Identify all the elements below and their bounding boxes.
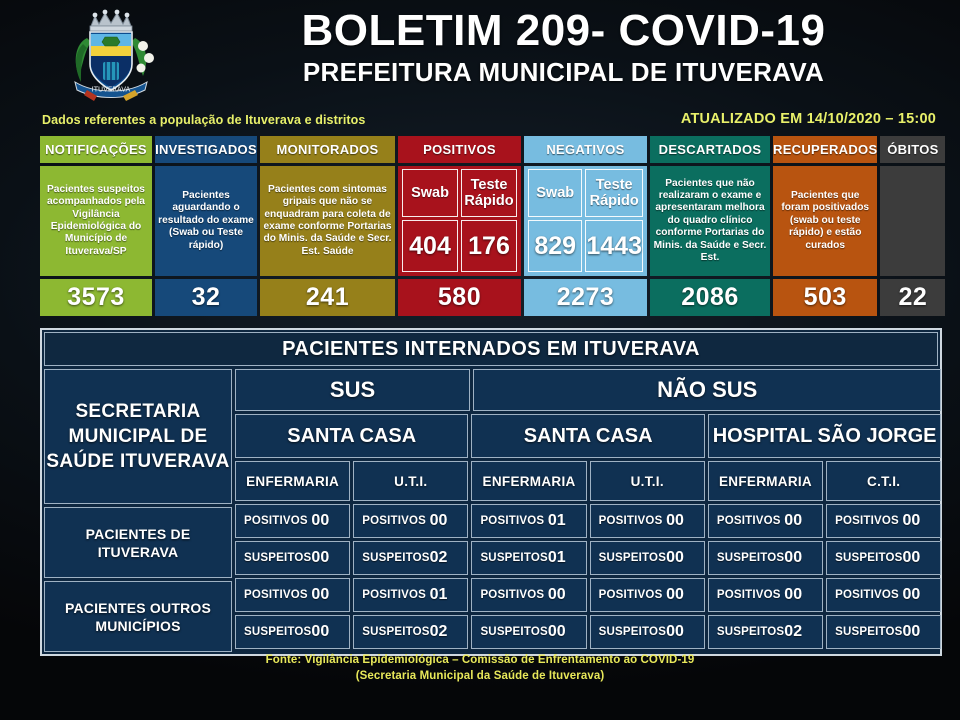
- metric-label: POSITIVOS: [362, 515, 426, 527]
- metric-value: 02: [784, 623, 802, 641]
- stat-body-monitorados: Pacientes com sintomas gripais que não s…: [260, 166, 395, 276]
- page-subtitle: PREFEITURA MUNICIPAL DE ITUVERAVA: [175, 56, 952, 88]
- ward-header-1: U.T.I.: [353, 461, 468, 501]
- cell-positivos-r1-c0: POSITIVOS00: [235, 578, 350, 612]
- stat-header-recuperados: RECUPERADOS: [773, 136, 877, 163]
- stat-sublabel-negativos-1: Teste Rápido: [585, 169, 643, 217]
- stat-total-monitorados: 241: [260, 279, 395, 316]
- metric-label: POSITIVOS: [717, 515, 781, 527]
- footer: Fonte: Vigilância Epidemiológica – Comis…: [0, 652, 960, 684]
- cell-suspeitos-r1-c0: SUSPEITOS00: [235, 615, 350, 649]
- cell-positivos-r1-c2: POSITIVOS00: [471, 578, 586, 612]
- stat-total-recuperados: 503: [773, 279, 877, 316]
- stat-column-notificacoes: NOTIFICAÇÕESPacientes suspeitos acompanh…: [40, 136, 152, 316]
- cell-suspeitos-r1-c3: SUSPEITOS00: [590, 615, 705, 649]
- metric-value: 00: [784, 549, 802, 567]
- stat-split-body-positivos: Swab404Teste Rápido176: [398, 166, 521, 276]
- stat-column-descartados: DESCARTADOSPacientes que não realizaram …: [650, 136, 770, 316]
- cell-suspeitos-r1-c1: SUSPEITOS02: [353, 615, 468, 649]
- stat-sublabel-positivos-0: Swab: [402, 169, 458, 217]
- metric-value: 00: [903, 586, 921, 604]
- hospital-header-row: SANTA CASA SANTA CASA HOSPITAL SÃO JORGE: [235, 414, 941, 458]
- metric-value: 00: [903, 512, 921, 530]
- metric-label: SUSPEITOS: [599, 552, 666, 564]
- metric-value: 00: [311, 549, 329, 567]
- stat-body-investigados: Pacientes aguardando o resultado do exam…: [155, 166, 257, 276]
- metric-label: POSITIVOS: [362, 589, 426, 601]
- hospital-sao-jorge: HOSPITAL SÃO JORGE: [708, 414, 941, 458]
- system-header-row: SUS NÃO SUS: [235, 369, 941, 411]
- metric-label: SUSPEITOS: [362, 552, 429, 564]
- stat-column-negativos: NEGATIVOSSwab829Teste Rápido14432273: [524, 136, 647, 316]
- metric-value: 00: [903, 549, 921, 567]
- stat-description-descartados: Pacientes que não realizaram o exame e a…: [653, 178, 767, 265]
- cell-positivos-r0-c0: POSITIVOS00: [235, 504, 350, 538]
- stat-header-obitos: ÓBITOS: [880, 136, 945, 163]
- metric-value: 00: [666, 512, 684, 530]
- stat-subvalue-negativos-0: 829: [528, 220, 582, 272]
- metric-label: POSITIVOS: [599, 589, 663, 601]
- metric-value: 00: [548, 623, 566, 641]
- table-row: POSITIVOS00POSITIVOS00POSITIVOS01POSITIV…: [235, 504, 941, 538]
- metric-value: 00: [311, 623, 329, 641]
- ward-header-5: C.T.I.: [826, 461, 941, 501]
- stats-table: NOTIFICAÇÕESPacientes suspeitos acompanh…: [40, 136, 942, 316]
- metric-label: SUSPEITOS: [362, 626, 429, 638]
- metric-value: 02: [430, 549, 448, 567]
- cell-suspeitos-r1-c2: SUSPEITOS00: [471, 615, 586, 649]
- metric-value: 01: [548, 512, 566, 530]
- row-label-outros-municipios: PACIENTES OUTROS MUNICÍPIOS: [44, 581, 232, 652]
- stat-header-positivos: POSITIVOS: [398, 136, 521, 163]
- hospitalized-section: PACIENTES INTERNADOS EM ITUVERAVA SECRET…: [40, 328, 942, 656]
- metric-label: POSITIVOS: [244, 589, 308, 601]
- metric-value: 00: [666, 549, 684, 567]
- metric-label: POSITIVOS: [835, 589, 899, 601]
- table-row: SUSPEITOS00SUSPEITOS02SUSPEITOS00SUSPEIT…: [235, 615, 941, 649]
- ward-header-4: ENFERMARIA: [708, 461, 823, 501]
- row-label-ituverava: PACIENTES DE ITUVERAVA: [44, 507, 232, 578]
- stat-header-monitorados: MONITORADOS: [260, 136, 395, 163]
- page-title: BOLETIM 209- COVID-19: [175, 6, 952, 56]
- stat-subcell-positivos-0: Swab404: [402, 169, 458, 272]
- metric-label: SUSPEITOS: [835, 552, 902, 564]
- metric-value: 00: [666, 623, 684, 641]
- stat-total-investigados: 32: [155, 279, 257, 316]
- header: ITUVERAVA BOLETIM 209- COVID-19 PREFEITU…: [0, 0, 960, 112]
- metric-value: 00: [430, 512, 448, 530]
- cell-positivos-r1-c4: POSITIVOS00: [708, 578, 823, 612]
- stat-body-descartados: Pacientes que não realizaram o exame e a…: [650, 166, 770, 276]
- metric-value: 00: [311, 586, 329, 604]
- cell-suspeitos-r0-c4: SUSPEITOS00: [708, 541, 823, 575]
- stat-subvalue-positivos-1: 176: [461, 220, 517, 272]
- cell-positivos-r0-c3: POSITIVOS00: [590, 504, 705, 538]
- stat-body-notificacoes: Pacientes suspeitos acompanhados pela Vi…: [40, 166, 152, 276]
- hospitalized-data-rows: POSITIVOS00POSITIVOS00POSITIVOS01POSITIV…: [235, 504, 941, 649]
- cell-suspeitos-r0-c3: SUSPEITOS00: [590, 541, 705, 575]
- cell-positivos-r0-c4: POSITIVOS00: [708, 504, 823, 538]
- stat-column-investigados: INVESTIGADOSPacientes aguardando o resul…: [155, 136, 257, 316]
- metric-label: POSITIVOS: [717, 589, 781, 601]
- metric-label: SUSPEITOS: [835, 626, 902, 638]
- stat-description-notificacoes: Pacientes suspeitos acompanhados pela Vi…: [43, 184, 149, 258]
- cell-positivos-r0-c2: POSITIVOS01: [471, 504, 586, 538]
- stat-subvalue-negativos-1: 1443: [585, 220, 643, 272]
- cell-positivos-r1-c1: POSITIVOS01: [353, 578, 468, 612]
- title-block: BOLETIM 209- COVID-19 PREFEITURA MUNICIP…: [175, 6, 952, 88]
- metric-label: SUSPEITOS: [244, 552, 311, 564]
- svg-text:ITUVERAVA: ITUVERAVA: [92, 86, 131, 94]
- stat-header-descartados: DESCARTADOS: [650, 136, 770, 163]
- updated-timestamp: ATUALIZADO EM 14/10/2020 – 15:00: [681, 111, 936, 127]
- metric-label: SUSPEITOS: [480, 552, 547, 564]
- stat-body-recuperados: Pacientes que foram positivados (swab ou…: [773, 166, 877, 276]
- ward-header-3: U.T.I.: [590, 461, 705, 501]
- cell-suspeitos-r0-c5: SUSPEITOS00: [826, 541, 941, 575]
- stat-column-positivos: POSITIVOSSwab404Teste Rápido176580: [398, 136, 521, 316]
- metric-label: POSITIVOS: [599, 515, 663, 527]
- footer-line-1: Fonte: Vigilância Epidemiológica – Comis…: [0, 652, 960, 668]
- cell-suspeitos-r0-c2: SUSPEITOS01: [471, 541, 586, 575]
- stat-subcell-positivos-1: Teste Rápido176: [461, 169, 517, 272]
- stat-total-obitos: 22: [880, 279, 945, 316]
- cell-suspeitos-r0-c1: SUSPEITOS02: [353, 541, 468, 575]
- metric-label: SUSPEITOS: [599, 626, 666, 638]
- stat-header-notificacoes: NOTIFICAÇÕES: [40, 136, 152, 163]
- metric-value: 00: [784, 586, 802, 604]
- metric-label: SUSPEITOS: [244, 626, 311, 638]
- system-nao-sus: NÃO SUS: [473, 369, 941, 411]
- metric-label: POSITIVOS: [835, 515, 899, 527]
- stat-total-negativos: 2273: [524, 279, 647, 316]
- metric-value: 02: [430, 623, 448, 641]
- hospitalized-right-grid: SUS NÃO SUS SANTA CASA SANTA CASA HOSPIT…: [235, 369, 941, 652]
- metric-label: POSITIVOS: [244, 515, 308, 527]
- system-sus: SUS: [235, 369, 470, 411]
- cell-positivos-r1-c3: POSITIVOS00: [590, 578, 705, 612]
- cell-positivos-r0-c5: POSITIVOS00: [826, 504, 941, 538]
- metric-value: 01: [548, 549, 566, 567]
- metric-value: 01: [430, 586, 448, 604]
- cell-positivos-r0-c1: POSITIVOS00: [353, 504, 468, 538]
- metric-value: 00: [784, 512, 802, 530]
- stat-column-recuperados: RECUPERADOSPacientes que foram positivad…: [773, 136, 877, 316]
- secretaria-label: SECRETARIA MUNICIPAL DE SAÚDE ITUVERAVA: [44, 369, 232, 504]
- bulletin-page: ITUVERAVA BOLETIM 209- COVID-19 PREFEITU…: [0, 0, 960, 720]
- metric-value: 00: [666, 586, 684, 604]
- stat-body-obitos: [880, 166, 945, 276]
- stat-total-descartados: 2086: [650, 279, 770, 316]
- metric-value: 00: [548, 586, 566, 604]
- stat-total-notificacoes: 3573: [40, 279, 152, 316]
- metric-label: SUSPEITOS: [480, 626, 547, 638]
- stat-description-investigados: Pacientes aguardando o resultado do exam…: [158, 190, 254, 252]
- hospitalized-title: PACIENTES INTERNADOS EM ITUVERAVA: [44, 332, 938, 366]
- stat-subcell-negativos-1: Teste Rápido1443: [585, 169, 643, 272]
- stat-sublabel-positivos-1: Teste Rápido: [461, 169, 517, 217]
- ward-header-0: ENFERMARIA: [235, 461, 350, 501]
- footer-line-2: (Secretaria Municipal da Saúde de Ituver…: [0, 668, 960, 684]
- stat-sublabel-negativos-0: Swab: [528, 169, 582, 217]
- metric-label: SUSPEITOS: [717, 552, 784, 564]
- reference-note: Dados referentes a população de Ituverav…: [42, 113, 365, 127]
- table-row: SUSPEITOS00SUSPEITOS02SUSPEITOS01SUSPEIT…: [235, 541, 941, 575]
- stat-total-positivos: 580: [398, 279, 521, 316]
- stat-header-investigados: INVESTIGADOS: [155, 136, 257, 163]
- cell-suspeitos-r1-c4: SUSPEITOS02: [708, 615, 823, 649]
- cell-suspeitos-r1-c5: SUSPEITOS00: [826, 615, 941, 649]
- ward-header-row: ENFERMARIAU.T.I.ENFERMARIAU.T.I.ENFERMAR…: [235, 461, 941, 501]
- stat-subcell-negativos-0: Swab829: [528, 169, 582, 272]
- ward-header-2: ENFERMARIA: [471, 461, 586, 501]
- metric-label: POSITIVOS: [480, 515, 544, 527]
- metric-value: 00: [311, 512, 329, 530]
- hospital-santa-casa-nao-sus: SANTA CASA: [471, 414, 704, 458]
- metric-label: POSITIVOS: [480, 589, 544, 601]
- ituverava-coat-of-arms-icon: ITUVERAVA: [57, 4, 165, 104]
- table-row: POSITIVOS00POSITIVOS01POSITIVOS00POSITIV…: [235, 578, 941, 612]
- hospitalized-left-labels: SECRETARIA MUNICIPAL DE SAÚDE ITUVERAVA …: [44, 369, 232, 652]
- cell-suspeitos-r0-c0: SUSPEITOS00: [235, 541, 350, 575]
- stat-column-monitorados: MONITORADOSPacientes com sintomas gripai…: [260, 136, 395, 316]
- stat-description-monitorados: Pacientes com sintomas gripais que não s…: [263, 184, 392, 258]
- stat-split-body-negativos: Swab829Teste Rápido1443: [524, 166, 647, 276]
- stat-header-negativos: NEGATIVOS: [524, 136, 647, 163]
- hospitalized-grid: SECRETARIA MUNICIPAL DE SAÚDE ITUVERAVA …: [44, 369, 938, 652]
- metric-value: 00: [903, 623, 921, 641]
- hospital-santa-casa-sus: SANTA CASA: [235, 414, 468, 458]
- cell-positivos-r1-c5: POSITIVOS00: [826, 578, 941, 612]
- stat-description-recuperados: Pacientes que foram positivados (swab ou…: [776, 190, 874, 252]
- stat-column-obitos: ÓBITOS22: [880, 136, 945, 316]
- metric-label: SUSPEITOS: [717, 626, 784, 638]
- stat-subvalue-positivos-0: 404: [402, 220, 458, 272]
